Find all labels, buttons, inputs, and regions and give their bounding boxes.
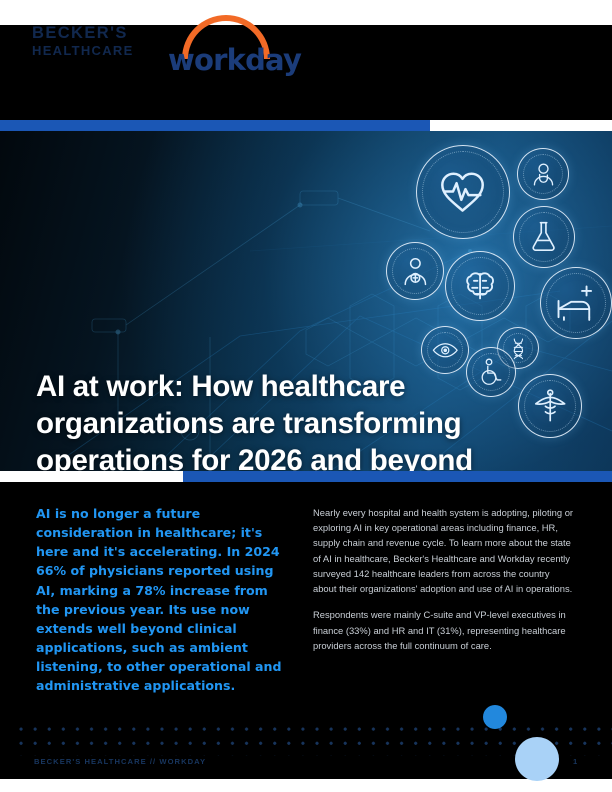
- footer-label: BECKER'S HEALTHCARE // WORKDAY: [34, 757, 206, 766]
- beckers-logo-line2: HEALTHCARE: [32, 44, 134, 58]
- mid-blue-rule: [183, 471, 612, 482]
- workday-wordmark: workday: [168, 43, 301, 77]
- hero-banner: AI at work: How healthcare organizations…: [0, 131, 612, 471]
- beckers-logo-line1: BECKER'S: [32, 25, 134, 42]
- top-blue-rule: [0, 120, 430, 131]
- body-paragraph-2: Respondents were mainly C-suite and VP-l…: [313, 607, 575, 653]
- footer-page-number: 1: [573, 757, 577, 766]
- workday-logo: workday .: [168, 15, 286, 77]
- body-paragraph-1: Nearly every hospital and health system …: [313, 505, 575, 596]
- page-title: AI at work: How healthcare organizations…: [36, 368, 556, 471]
- report-cover-page: BECKER'S HEALTHCARE workday .: [0, 0, 612, 792]
- workday-trademark-icon: .: [276, 63, 278, 72]
- footer-accent-dot-small: [483, 705, 507, 729]
- footer-accent-dot-large: [515, 737, 559, 781]
- beckers-healthcare-logo: BECKER'S HEALTHCARE: [32, 25, 134, 58]
- body-copy-column: Nearly every hospital and health system …: [313, 505, 575, 664]
- lead-paragraph: AI is no longer a future consideration i…: [36, 504, 286, 695]
